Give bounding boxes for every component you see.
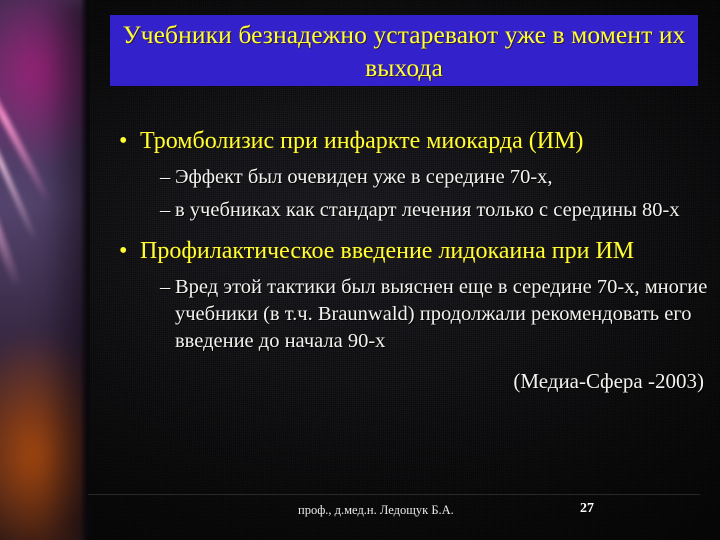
- slide-footer: проф., д.мед.н. Ледощук Б.А. 27: [88, 498, 700, 538]
- slide-page-number: 27: [580, 500, 594, 518]
- slide-title: Учебники безнадежно устаревают уже в мом…: [120, 18, 688, 84]
- dash-bullet-icon: –: [160, 164, 170, 191]
- bullet-item-level2: – в учебниках как стандарт лечения тольк…: [110, 197, 710, 224]
- presentation-slide: Учебники безнадежно устаревают уже в мом…: [0, 0, 720, 540]
- bullet-text: Тромболизис при инфаркте миокарда (ИМ): [140, 128, 583, 154]
- dash-bullet-icon: –: [160, 197, 170, 224]
- slide-title-banner: Учебники безнадежно устаревают уже в мом…: [110, 15, 698, 86]
- bullet-item-level2: – Эффект был очевиден уже в середине 70-…: [110, 164, 710, 191]
- bullet-item-level1: • Тромболизис при инфаркте миокарда (ИМ): [110, 126, 710, 156]
- footer-divider: [88, 494, 700, 495]
- bullet-item-level2: – Вред этой тактики был выяснен еще в се…: [110, 274, 710, 355]
- spacer: [110, 224, 710, 236]
- dash-bullet-icon: –: [160, 274, 170, 301]
- source-credit: (Медиа-Сфера -2003): [110, 367, 710, 395]
- footer-author: проф., д.мед.н. Ледощук Б.А.: [298, 502, 454, 518]
- bullet-point-icon: •: [119, 236, 127, 266]
- bullet-text: Вред этой тактики был выяснен еще в сере…: [175, 276, 707, 352]
- bullet-text: Профилактическое введение лидокаина при …: [140, 238, 634, 264]
- bullet-text: Эффект был очевиден уже в середине 70-х,: [175, 166, 553, 188]
- slide-body: • Тромболизис при инфаркте миокарда (ИМ)…: [110, 126, 710, 395]
- sidebar-edge-fade: [80, 0, 90, 540]
- bullet-point-icon: •: [119, 126, 127, 156]
- bullet-item-level1: • Профилактическое введение лидокаина пр…: [110, 236, 710, 266]
- decorative-sidebar-artwork: [0, 0, 86, 540]
- bullet-text: в учебниках как стандарт лечения только …: [175, 199, 680, 221]
